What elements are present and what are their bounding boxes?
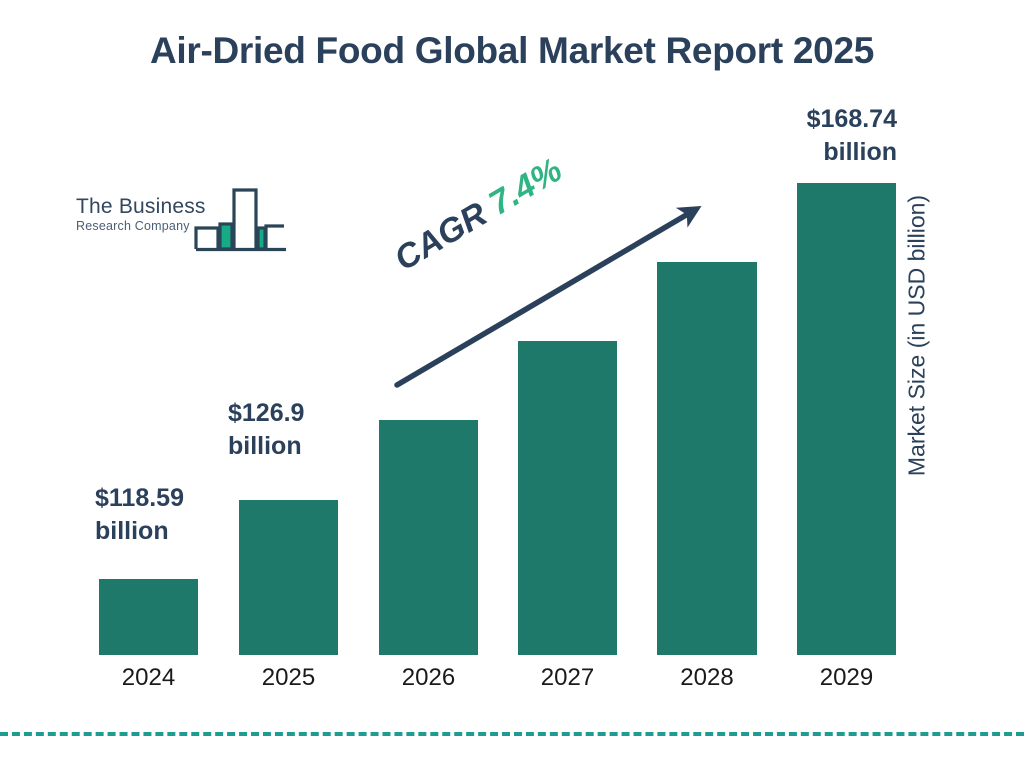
cagr-label: CAGR [388,195,494,279]
value-label-2025-amount: $126.9 [228,397,358,430]
value-label-2029: $168.74 billion [760,103,897,169]
value-label-2025-unit: billion [228,430,358,463]
value-label-2024: $118.59 billion [95,482,225,548]
bar-2026[interactable] [379,420,478,655]
footer-divider [0,732,1024,736]
x-tick-2029: 2029 [797,664,896,692]
bar-2029[interactable] [797,183,896,655]
cagr-annotation: CAGR 7.4% [388,151,569,280]
x-tick-2027: 2027 [518,664,617,692]
value-label-2029-unit: billion [760,136,897,169]
x-tick-2028: 2028 [657,664,757,692]
plot-area: $118.59 billion $126.9 billion $168.74 b… [0,0,1024,768]
y-axis-title: Market Size (in USD billion) [904,166,931,506]
value-label-2025: $126.9 billion [228,397,358,463]
cagr-value: 7.4% [483,151,569,223]
value-label-2029-amount: $168.74 [760,103,897,136]
x-tick-2025: 2025 [239,664,338,692]
bar-2028[interactable] [657,262,757,655]
x-tick-2026: 2026 [379,664,478,692]
bar-2027[interactable] [518,341,617,655]
value-label-2024-amount: $118.59 [95,482,225,515]
bar-2025[interactable] [239,500,338,655]
value-label-2024-unit: billion [95,515,225,548]
chart-canvas: Air-Dried Food Global Market Report 2025… [0,0,1024,768]
x-tick-2024: 2024 [99,664,198,692]
bar-2024[interactable] [99,579,198,655]
